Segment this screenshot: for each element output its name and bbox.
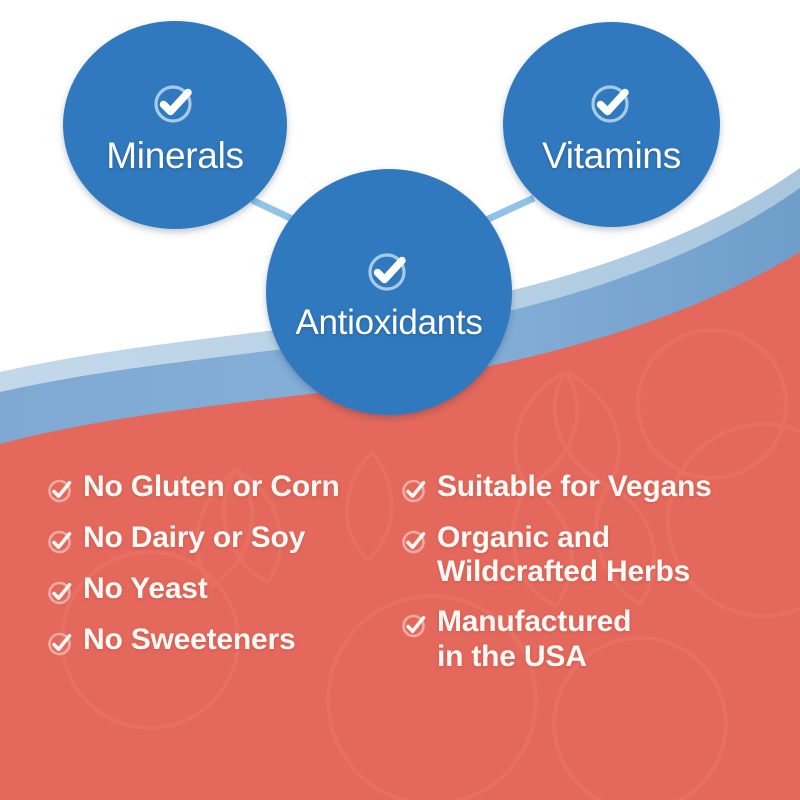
node-minerals[interactable]: Minerals — [63, 21, 287, 229]
benefit-item: No Gluten or Corn — [46, 470, 392, 505]
benefit-label: No Gluten or Corn — [83, 470, 340, 504]
benefit-item: No Yeast — [46, 572, 392, 607]
benefit-item: No Sweeteners — [46, 623, 392, 658]
check-circle-icon — [147, 74, 203, 135]
check-circle-icon — [400, 526, 430, 556]
node-vitamins[interactable]: Vitamins — [503, 22, 720, 227]
check-circle-icon — [46, 577, 76, 607]
benefit-label-line: Organic and — [437, 521, 610, 554]
check-circle-icon — [46, 526, 76, 556]
infographic-canvas: Minerals Vitamins Antioxidants — [0, 0, 800, 800]
benefit-label: Suitable for Vegans — [437, 470, 712, 504]
node-label: Antioxidants — [295, 305, 482, 342]
benefits-column-right: Suitable for Vegans Organic and Wildcraf… — [392, 470, 800, 710]
benefit-label-line: in the USA — [437, 640, 587, 673]
benefit-label: No Sweeteners — [83, 623, 295, 657]
node-label: Minerals — [106, 137, 243, 176]
benefits-column-left: No Gluten or Corn No Dairy or Soy — [0, 470, 392, 710]
benefit-item: Manufactured in the USA — [400, 605, 800, 673]
benefit-item: Suitable for Vegans — [400, 470, 800, 505]
check-circle-icon — [400, 610, 430, 640]
benefits-list: No Gluten or Corn No Dairy or Soy — [0, 470, 800, 710]
check-circle-icon — [400, 475, 430, 505]
benefit-label: No Yeast — [83, 572, 208, 606]
node-antioxidants[interactable]: Antioxidants — [266, 169, 512, 415]
benefit-label: No Dairy or Soy — [83, 521, 305, 555]
node-label: Vitamins — [542, 137, 681, 176]
check-circle-icon — [46, 628, 76, 658]
check-circle-icon — [584, 74, 640, 135]
benefit-item: No Dairy or Soy — [46, 521, 392, 556]
benefit-item: Organic and Wildcrafted Herbs — [400, 521, 800, 589]
check-circle-icon — [361, 242, 417, 303]
check-circle-icon — [46, 475, 76, 505]
benefit-label-line: Manufactured — [437, 605, 631, 638]
benefit-label-line: Wildcrafted Herbs — [437, 555, 690, 588]
